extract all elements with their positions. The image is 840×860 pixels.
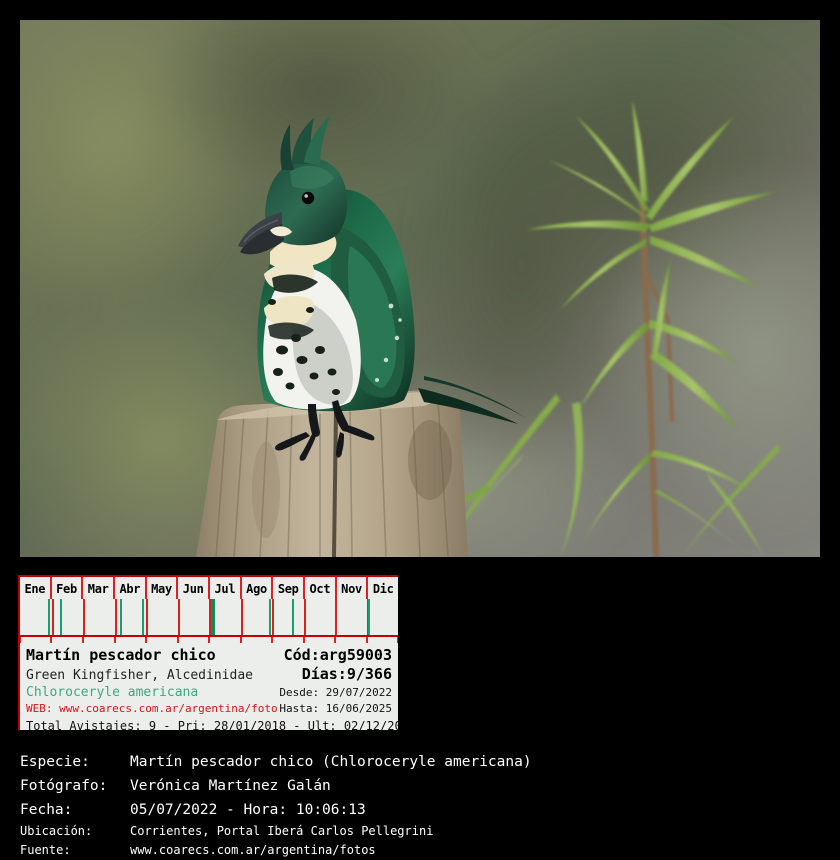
meta-label: Especie: xyxy=(20,750,130,774)
month-cell-mar[interactable]: Mar xyxy=(83,577,115,601)
sighting-tick xyxy=(120,599,122,635)
card-text-block: Martín pescador chico Cód:arg59003 Green… xyxy=(20,643,398,717)
meta-row: Fuente:www.coarecs.com.ar/argentina/foto… xyxy=(20,841,820,860)
meta-value: Verónica Martínez Galán xyxy=(130,774,331,798)
month-cell-abr[interactable]: Abr xyxy=(115,577,147,601)
meta-label: Ubicación: xyxy=(20,822,130,841)
sighting-tick xyxy=(60,599,62,635)
bird-photo-illustration xyxy=(20,20,820,557)
meta-value: Martín pescador chico (Chloroceryle amer… xyxy=(130,750,532,774)
month-cell-ene[interactable]: Ene xyxy=(20,577,52,601)
sighting-tick xyxy=(142,599,144,635)
meta-row: Ubicación:Corrientes, Portal Iberá Carlo… xyxy=(20,822,820,841)
month-divider xyxy=(304,599,306,635)
range-desde: Desde: 29/07/2022 xyxy=(279,685,392,701)
range-hasta: Hasta: 16/06/2025 xyxy=(279,701,392,717)
sighting-tick xyxy=(48,599,50,635)
sighting-tick xyxy=(269,599,271,635)
wooden-stump xyxy=(196,390,468,557)
species-common-name: Martín pescador chico xyxy=(26,646,284,665)
month-cell-jul[interactable]: Jul xyxy=(210,577,242,601)
sighting-tick xyxy=(368,599,370,635)
card-row-scientific: Chloroceryle americana Desde: 29/07/2022 xyxy=(26,684,392,701)
sighting-summary-card: EneFebMarAbrMayJunJulAgoSepOctNovDic Mar… xyxy=(18,575,398,730)
month-divider xyxy=(115,599,117,635)
meta-row: Fecha:05/07/2022 - Hora: 10:06:13 xyxy=(20,798,820,822)
month-cell-sep[interactable]: Sep xyxy=(273,577,305,601)
month-cell-ago[interactable]: Ago xyxy=(242,577,274,601)
month-divider xyxy=(146,599,148,635)
month-cell-dic[interactable]: Dic xyxy=(368,577,398,601)
month-cell-may[interactable]: May xyxy=(147,577,179,601)
meta-value: Corrientes, Portal Iberá Carlos Pellegri… xyxy=(130,822,433,841)
meta-row: Fotógrafo:Verónica Martínez Galán xyxy=(20,774,820,798)
meta-value: www.coarecs.com.ar/argentina/fotos xyxy=(130,841,376,860)
card-row-web: WEB: www.coarecs.com.ar/argentina/foto H… xyxy=(26,701,392,717)
species-scientific-name: Chloroceryle americana xyxy=(26,684,279,701)
month-cell-nov[interactable]: Nov xyxy=(337,577,369,601)
month-cell-jun[interactable]: Jun xyxy=(178,577,210,601)
sighting-tick xyxy=(211,599,215,635)
web-link-label[interactable]: WEB: www.coarecs.com.ar/argentina/foto xyxy=(26,701,279,717)
sighting-tick xyxy=(292,599,294,635)
meta-row: Especie:Martín pescador chico (Chlorocer… xyxy=(20,750,820,774)
meta-label: Fecha: xyxy=(20,798,130,822)
month-cell-feb[interactable]: Feb xyxy=(52,577,84,601)
month-divider xyxy=(178,599,180,635)
meta-label: Fotógrafo: xyxy=(20,774,130,798)
species-code: Cód:arg59003 xyxy=(284,646,392,665)
month-divider xyxy=(83,599,85,635)
month-cell-oct[interactable]: Oct xyxy=(305,577,337,601)
month-tick-track xyxy=(20,599,398,637)
month-divider xyxy=(52,599,54,635)
meta-label: Fuente: xyxy=(20,841,130,860)
total-sightings-line: Total Avistajes: 9 - Pri: 28/01/2018 - U… xyxy=(20,717,398,730)
month-divider xyxy=(335,599,337,635)
bird-photo xyxy=(20,20,820,557)
monthly-sightings-chart: EneFebMarAbrMayJunJulAgoSepOctNovDic xyxy=(20,575,398,643)
photo-metadata: Especie:Martín pescador chico (Chlorocer… xyxy=(20,750,820,860)
species-english-family: Green Kingfisher, Alcedinidae xyxy=(26,667,302,684)
month-divider xyxy=(241,599,243,635)
meta-value: 05/07/2022 - Hora: 10:06:13 xyxy=(130,798,366,822)
month-divider xyxy=(272,599,274,635)
species-days: Días:9/366 xyxy=(302,665,392,684)
card-row-english-family: Green Kingfisher, Alcedinidae Días:9/366 xyxy=(26,665,392,684)
card-row-common-name: Martín pescador chico Cód:arg59003 xyxy=(26,646,392,665)
